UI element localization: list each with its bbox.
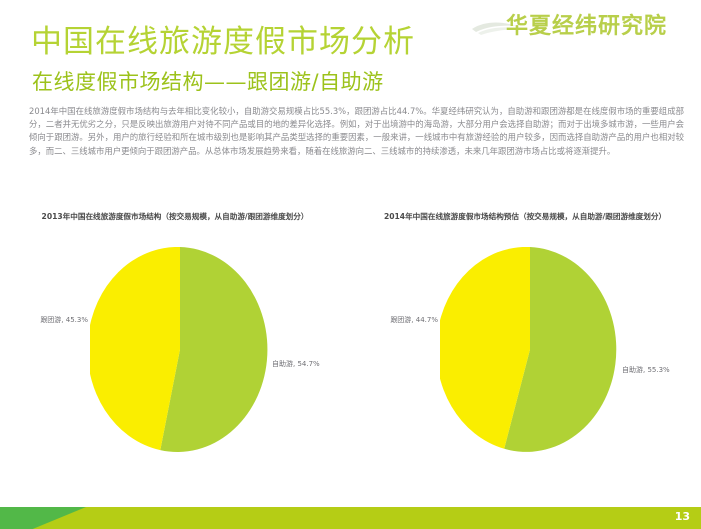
pie-2014-label-zizhu: 自助游, 55.3% — [622, 365, 670, 375]
pie-chart-2013: 2013年中国在线旅游度假市场结构（按交易规模，从自助游/跟团游维度划分） 跟团… — [0, 205, 350, 470]
page-subtitle: 在线度假市场结构——跟团游/自助游 — [32, 69, 384, 95]
body-paragraph: 2014年中国在线旅游度假市场结构与去年相比变化较小，自助游交易规模占比55.3… — [29, 105, 684, 158]
brand-logo-text: 华夏经纬研究院 — [506, 8, 667, 40]
footer-corner-accent — [0, 507, 86, 529]
pie-chart-2014-graphic: 跟团游, 44.7% 自助游, 55.3% — [440, 247, 620, 452]
pie-chart-2014: 2014年中国在线旅游度假市场结构预估（按交易规模，从自助游/跟团游维度划分） … — [350, 205, 700, 470]
charts-container: 2013年中国在线旅游度假市场结构（按交易规模，从自助游/跟团游维度划分） 跟团… — [0, 205, 701, 470]
slide-footer: 13 — [0, 507, 701, 529]
pie-chart-2014-title: 2014年中国在线旅游度假市场结构预估（按交易规模，从自助游/跟团游维度划分） — [380, 211, 670, 223]
page-number: 13 — [675, 510, 690, 523]
pie-2013-label-zizhu: 自助游, 54.7% — [272, 359, 320, 369]
brand-logo: 华夏经纬研究院 — [470, 6, 670, 46]
slide-canvas: 华夏经纬研究院 中国在线旅游度假市场分析 在线度假市场结构——跟团游/自助游 2… — [0, 0, 701, 529]
pie-chart-2013-title: 2013年中国在线旅游度假市场结构（按交易规模，从自助游/跟团游维度划分） — [30, 211, 320, 223]
pie-2013-label-tuan: 跟团游, 45.3% — [40, 315, 88, 325]
pie-2014-label-tuan: 跟团游, 44.7% — [390, 315, 438, 325]
pie-2014-svg — [440, 247, 620, 452]
pie-chart-2013-graphic: 跟团游, 45.3% 自助游, 54.7% — [90, 247, 270, 452]
page-title: 中国在线旅游度假市场分析 — [31, 24, 415, 60]
body-paragraph-text: 2014年中国在线旅游度假市场结构与去年相比变化较小，自助游交易规模占比55.3… — [29, 105, 684, 158]
pie-2013-svg — [90, 247, 270, 452]
